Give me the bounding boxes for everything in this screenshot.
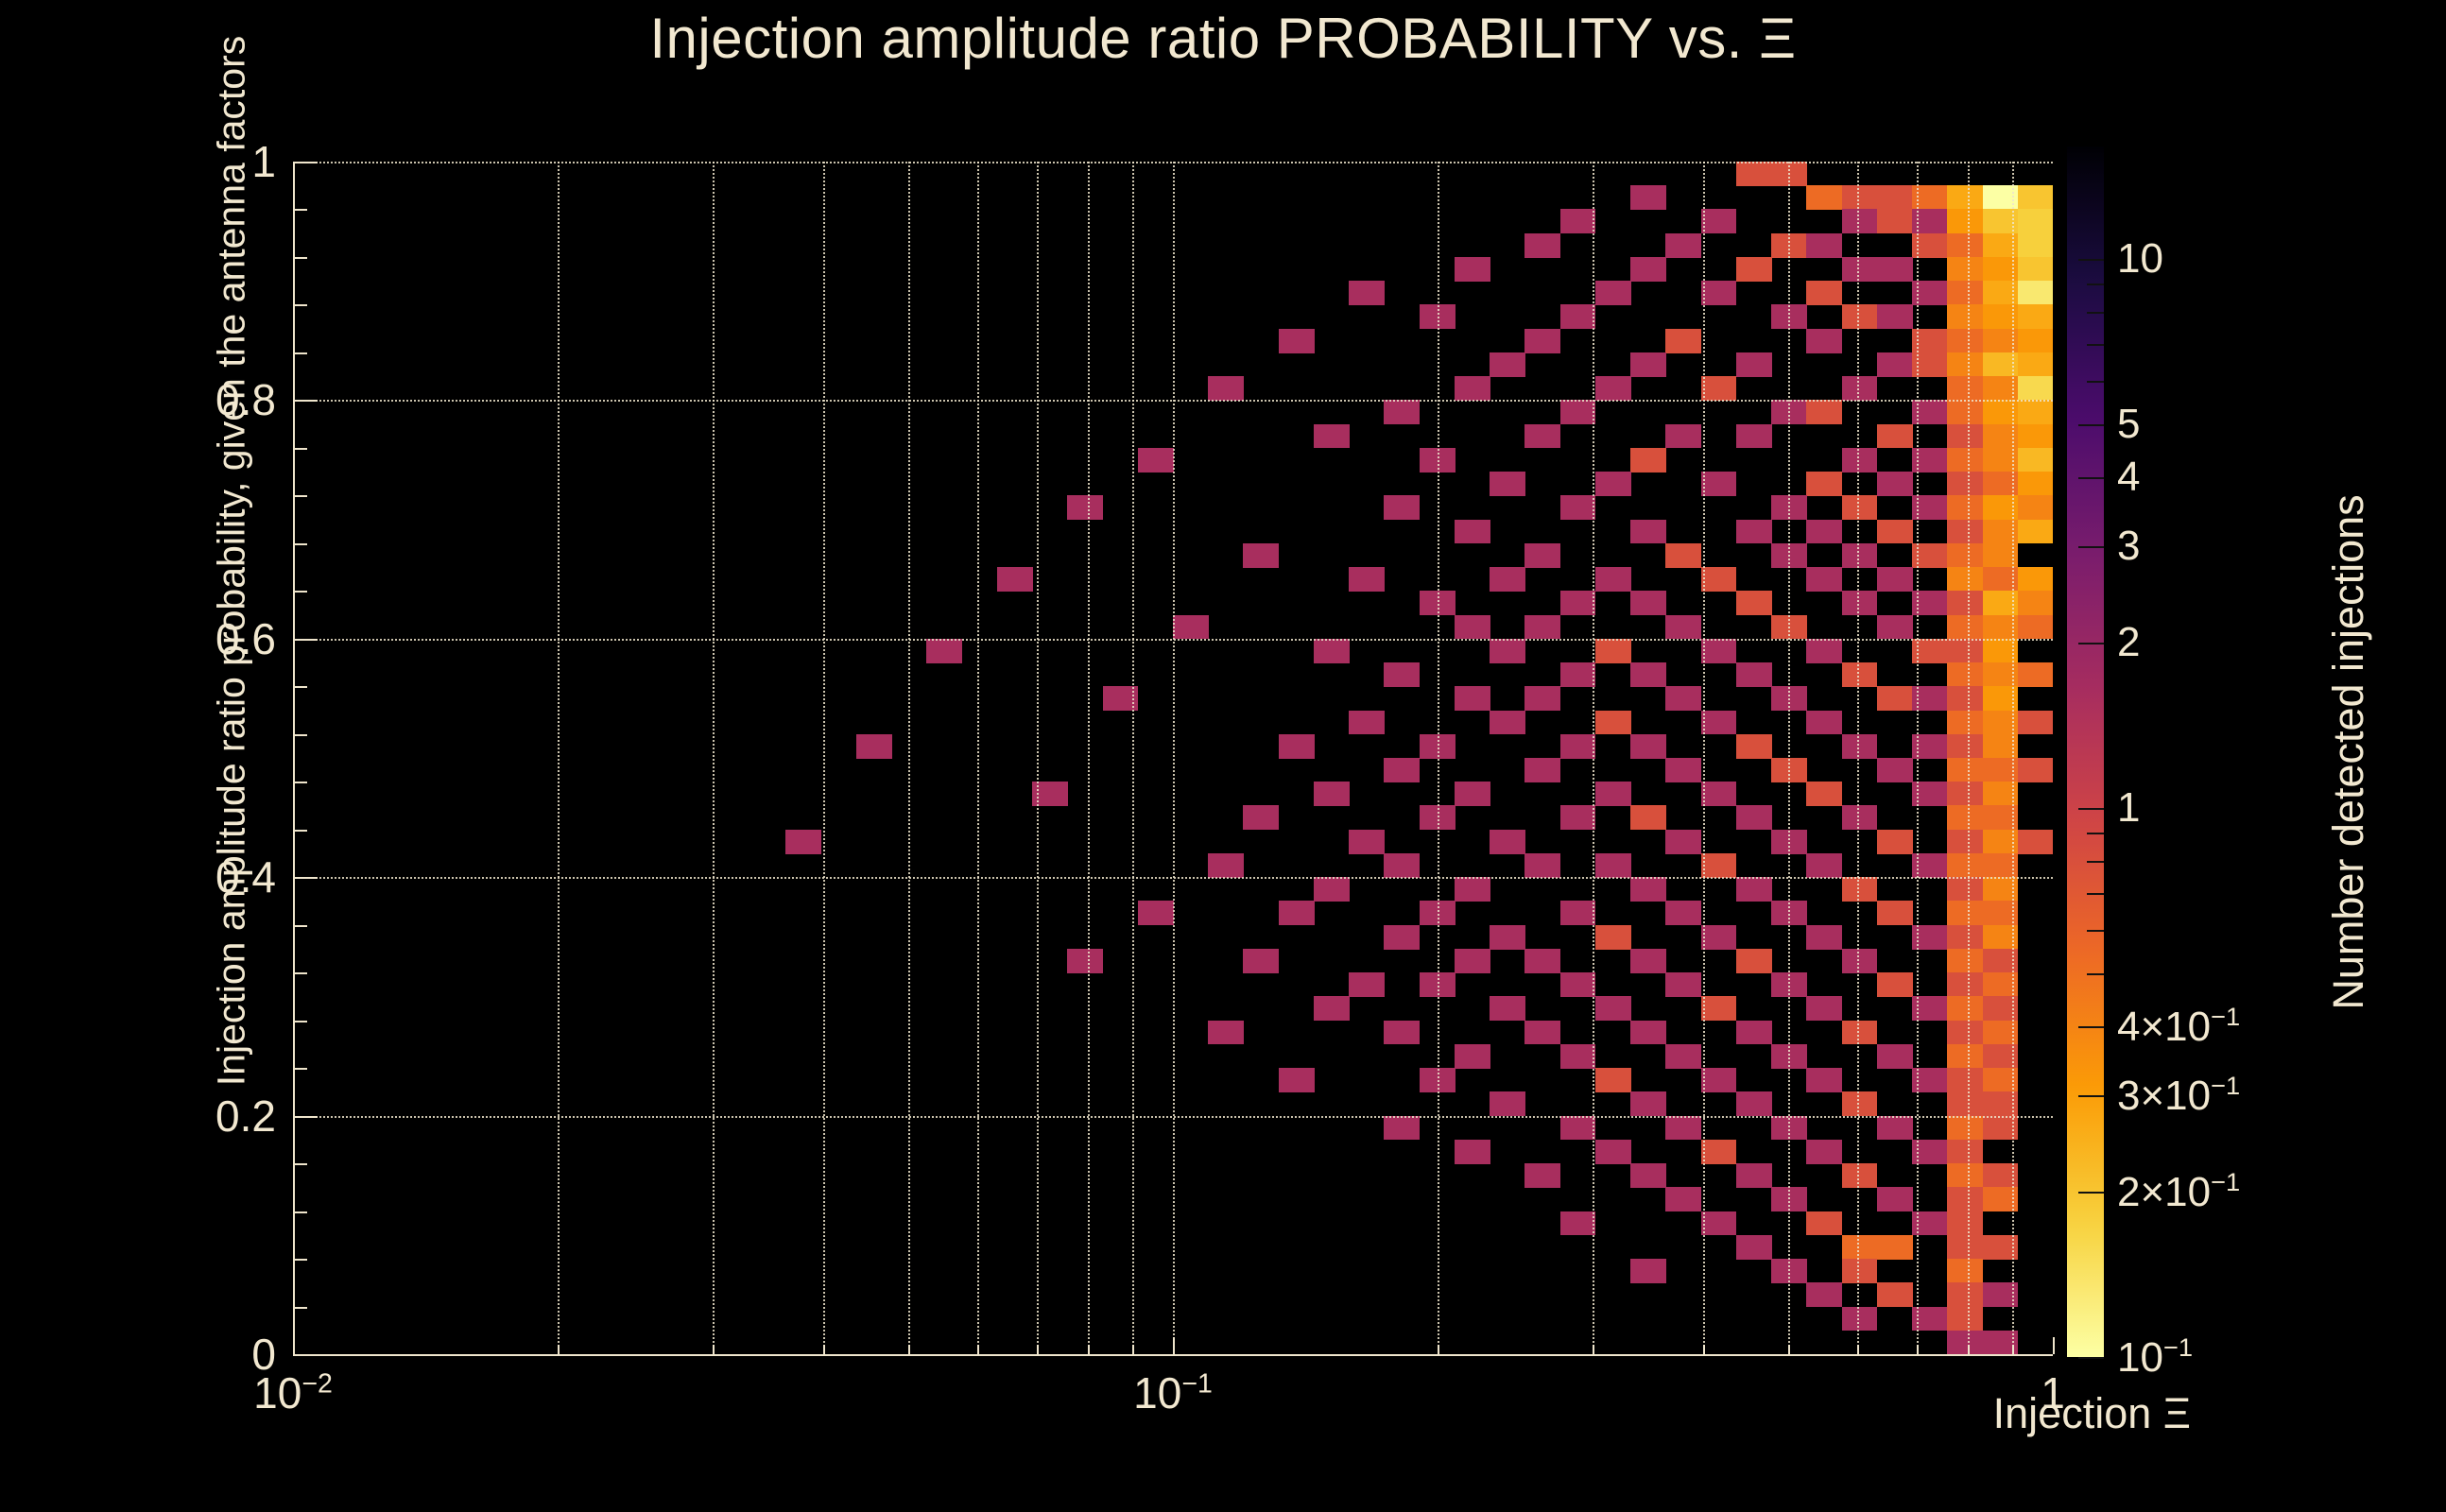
y-major-tick [293,877,318,879]
heatmap-cell [1771,972,1807,997]
heatmap-cell [1736,1021,1772,1045]
heatmap-cell [1842,543,1878,568]
heatmap-cell [1736,591,1772,615]
heatmap-cell [1736,162,1772,186]
x-minor-tick [977,1345,979,1354]
heatmap-cell [1595,1140,1631,1164]
heatmap-cell [2018,567,2053,592]
heatmap-cell [2018,304,2053,329]
heatmap-cell [1877,1116,1913,1141]
y-minor-tick [293,1259,307,1261]
heatmap-plot-area[interactable] [293,162,2053,1354]
heatmap-cell [1560,1116,1596,1141]
heatmap-cell [2018,400,2053,424]
heatmap-cell [1806,711,1842,735]
heatmap-cells [293,162,2053,1354]
heatmap-cell [1736,424,1772,449]
heatmap-cell [1455,686,1490,711]
heatmap-cell [1842,734,1878,759]
heatmap-cell [1314,424,1350,449]
x-minor-tick [908,1345,910,1354]
y-minor-tick [293,543,307,545]
heatmap-cell [1701,472,1737,496]
heatmap-cell [1842,448,1878,472]
heatmap-cell [1524,686,1560,711]
x-tick-label: 10−2 [253,1367,333,1418]
heatmap-cell [2018,424,2053,449]
heatmap-cell [1947,711,1983,735]
heatmap-cell [1947,1259,1983,1283]
heatmap-cell [2018,758,2053,782]
heatmap-cell [1877,472,1913,496]
heatmap-cell [1983,877,2019,902]
heatmap-cell [1877,686,1913,711]
heatmap-cell [1806,233,1842,258]
heatmap-cell [1560,972,1596,997]
heatmap-cell [1490,711,1525,735]
heatmap-cell [1912,329,1948,353]
heatmap-cell [1983,1044,2019,1069]
heatmap-cell [1630,352,1666,377]
heatmap-cell [1947,686,1983,711]
heatmap-cell [1560,805,1596,830]
heatmap-cell [1983,1163,2019,1188]
heatmap-cell [1983,901,2019,925]
heatmap-cell [1947,996,1983,1021]
heatmap-cell [1947,257,1983,282]
heatmap-cell [1490,1091,1525,1116]
heatmap-cell [2018,472,2053,496]
heatmap-cell [1208,376,1244,401]
heatmap-cell [1103,686,1139,711]
heatmap-cell [1983,972,2019,997]
heatmap-cell [1912,1307,1948,1332]
heatmap-cell [1842,662,1878,687]
heatmap-cell [1630,591,1666,615]
heatmap-cell [1912,734,1948,759]
y-major-tick [293,400,318,402]
heatmap-cell [1947,782,1983,806]
heatmap-cell [2018,711,2053,735]
heatmap-cell [1208,1021,1244,1045]
heatmap-cell [1983,949,2019,973]
colorbar-tick-label: 2×10−1 [2117,1167,2240,1216]
heatmap-cell [1490,639,1525,663]
heatmap-cell [1947,1187,1983,1211]
colorbar-major-tick [2078,808,2104,810]
heatmap-cell [1524,543,1560,568]
heatmap-cell [1420,448,1456,472]
heatmap-cell [1806,1282,1842,1307]
heatmap-cell [2018,448,2053,472]
heatmap-cell [1665,972,1701,997]
heatmap-cell [1314,782,1350,806]
heatmap-cell [1630,1259,1666,1283]
heatmap-cell [1842,376,1878,401]
heatmap-cell [1947,877,1983,902]
heatmap-cell [2018,257,2053,282]
heatmap-cell [1736,877,1772,902]
y-major-tick [293,639,318,641]
y-axis-title: Injection amplitude ratio probability, g… [210,0,254,1176]
colorbar-tick-label: 10−1 [2117,1332,2193,1382]
heatmap-cell [1384,758,1420,782]
y-minor-tick [293,304,307,306]
heatmap-cell [1947,281,1983,305]
heatmap-cell [1701,782,1737,806]
heatmap-cell [1665,1187,1701,1211]
heatmap-cell [1947,185,1983,210]
heatmap-cell [1947,591,1983,615]
heatmap-cell [1877,209,1913,233]
heatmap-cell [1771,304,1807,329]
heatmap-cell [1806,1140,1842,1164]
heatmap-cell [1279,1068,1315,1092]
heatmap-cell [1947,925,1983,950]
heatmap-cell [1279,734,1315,759]
heatmap-cell [1701,209,1737,233]
heatmap-cell [1771,758,1807,782]
heatmap-cell [1138,901,1174,925]
heatmap-cell [1912,281,1948,305]
heatmap-cell [1420,1068,1456,1092]
heatmap-cell [1701,639,1737,663]
heatmap-cell [1067,495,1103,520]
heatmap-cell [1701,567,1737,592]
heatmap-cell [1384,495,1420,520]
heatmap-cell [2018,830,2053,854]
heatmap-cell [1877,567,1913,592]
y-minor-tick [293,1021,307,1022]
heatmap-cell [1983,925,2019,950]
heatmap-cell [1877,1187,1913,1211]
heatmap-cell [1806,1068,1842,1092]
heatmap-cell [1983,1116,2019,1141]
heatmap-cell [1490,996,1525,1021]
heatmap-cell [1595,996,1631,1021]
heatmap-cell [1524,949,1560,973]
heatmap-cell [1349,567,1385,592]
heatmap-cell [1912,352,1948,377]
heatmap-cell [1947,1021,1983,1045]
x-minor-tick [558,1345,560,1354]
heatmap-cell [1947,1091,1983,1116]
heatmap-cell [1701,1068,1737,1092]
colorbar-tick-label: 3×10−1 [2117,1071,2240,1120]
heatmap-cell [1983,376,2019,401]
heatmap-cell [1314,877,1350,902]
heatmap-cell [1701,996,1737,1021]
heatmap-cell [1947,304,1983,329]
y-minor-tick [293,591,307,593]
heatmap-cell [1912,853,1948,878]
heatmap-cell [1490,352,1525,377]
heatmap-cell [1701,711,1737,735]
heatmap-cell [1630,877,1666,902]
heatmap-cell [1173,615,1209,640]
heatmap-cell [1806,996,1842,1021]
heatmap-cell [1912,233,1948,258]
heatmap-cell [1983,686,2019,711]
heatmap-cell [1947,615,1983,640]
y-major-tick [293,1116,318,1118]
y-minor-tick [293,1211,307,1213]
heatmap-cell [1806,400,1842,424]
heatmap-cell [1983,853,2019,878]
heatmap-cell [1771,233,1807,258]
heatmap-cell [1842,591,1878,615]
heatmap-cell [1983,1187,2019,1211]
colorbar-tick [2087,344,2104,346]
heatmap-cell [1314,639,1350,663]
heatmap-cell [1455,520,1490,544]
heatmap-cell [1877,901,1913,925]
heatmap-cell [1524,329,1560,353]
heatmap-cell [1947,639,1983,663]
heatmap-cell [1771,1259,1807,1283]
y-minor-tick [293,782,307,783]
colorbar-tick-label: 1 [2117,784,2140,832]
colorbar-tick-label: 10 [2117,235,2163,283]
heatmap-cell [1806,472,1842,496]
x-minor-tick [713,1345,715,1354]
heatmap-cell [1349,711,1385,735]
chart-title: Injection amplitude ratio PROBABILITY vs… [0,6,2446,71]
heatmap-cell [1279,901,1315,925]
heatmap-cell [1490,830,1525,854]
heatmap-cell [1384,1021,1420,1045]
heatmap-cell [1736,1091,1772,1116]
heatmap-cell [1208,853,1244,878]
heatmap-cell [1983,996,2019,1021]
colorbar-tick-label: 5 [2117,401,2140,448]
heatmap-cell [1983,329,2019,353]
heatmap-cell [1701,1211,1737,1236]
heatmap-cell [1806,853,1842,878]
y-minor-tick [293,1068,307,1070]
colorbar-major-tick [2078,259,2104,261]
heatmap-cell [1771,1187,1807,1211]
plot-canvas: Injection amplitude ratio PROBABILITY vs… [0,0,2446,1512]
x-minor-tick [1968,1345,1970,1354]
x-minor-tick [823,1345,825,1354]
x-major-tick [2053,1337,2055,1354]
heatmap-cell [1384,925,1420,950]
heatmap-cell [1736,949,1772,973]
colorbar-tick [2087,833,2104,834]
heatmap-cell [1560,734,1596,759]
heatmap-cell [1384,662,1420,687]
heatmap-cell [1595,925,1631,950]
heatmap-cell [1947,734,1983,759]
heatmap-cell [1630,257,1666,282]
heatmap-cell [1630,1021,1666,1045]
heatmap-cell [1560,209,1596,233]
heatmap-cell [1947,472,1983,496]
heatmap-cell [1806,281,1842,305]
heatmap-cell [1947,376,1983,401]
heatmap-cell [1560,1044,1596,1069]
heatmap-cell [1983,1282,2019,1307]
x-minor-tick [1857,1345,1859,1354]
heatmap-cell [1067,949,1103,973]
heatmap-cell [1032,782,1068,806]
heatmap-cell [1701,281,1737,305]
heatmap-cell [1701,376,1737,401]
colorbar[interactable] [2067,146,2104,1357]
x-minor-tick [1703,1345,1705,1354]
colorbar-tick [2087,893,2104,895]
heatmap-cell [1947,1116,1983,1141]
heatmap-cell [1349,830,1385,854]
heatmap-cell [1560,400,1596,424]
colorbar-major-tick [2078,546,2104,548]
heatmap-cell [1947,1068,1983,1092]
heatmap-cell [1877,352,1913,377]
heatmap-cell [1842,1163,1878,1188]
heatmap-cell [1630,949,1666,973]
heatmap-cell [2018,233,2053,258]
heatmap-cell [1983,1021,2019,1045]
x-minor-tick [1788,1345,1790,1354]
heatmap-cell [1349,972,1385,997]
heatmap-cell [1842,1091,1878,1116]
heatmap-cell [1877,972,1913,997]
colorbar-tick-label: 3 [2117,523,2140,570]
heatmap-cell [1701,925,1737,950]
x-axis-title: Injection Ξ [1993,1389,2191,1438]
heatmap-cell [1806,639,1842,663]
heatmap-cell [1665,830,1701,854]
heatmap-cell [1243,805,1279,830]
heatmap-cell [1455,782,1490,806]
x-minor-tick [1132,1345,1134,1354]
x-tick-label: 10−1 [1133,1367,1213,1418]
heatmap-cell [1947,1140,1983,1164]
heatmap-cell [1665,543,1701,568]
y-major-tick [293,162,318,163]
heatmap-cell [1877,615,1913,640]
heatmap-cell [1947,233,1983,258]
heatmap-cell [1595,639,1631,663]
heatmap-cell [1983,424,2019,449]
heatmap-cell [1806,329,1842,353]
colorbar-tick-label: 2 [2117,619,2140,666]
heatmap-cell [1490,567,1525,592]
heatmap-cell [1983,257,2019,282]
heatmap-cell [1455,949,1490,973]
heatmap-cell [1630,734,1666,759]
heatmap-cell [1947,853,1983,878]
heatmap-cell [1736,1163,1772,1188]
heatmap-cell [1771,1116,1807,1141]
heatmap-cell [1595,1068,1631,1092]
y-axis-title-host: Injection amplitude ratio probability, g… [90,170,146,1342]
heatmap-cell [1983,233,2019,258]
x-minor-tick [1037,1345,1039,1354]
heatmap-cell [1560,591,1596,615]
heatmap-cell [1947,830,1983,854]
heatmap-cell [1665,1044,1701,1069]
heatmap-cell [1912,591,1948,615]
heatmap-cell [1947,758,1983,782]
heatmap-cell [1560,901,1596,925]
heatmap-cell [1665,329,1701,353]
heatmap-cell [1420,805,1456,830]
colorbar-tick [2087,283,2104,285]
heatmap-cell [1912,448,1948,472]
heatmap-cell [1842,1259,1878,1283]
heatmap-cell [1947,400,1983,424]
heatmap-cell [1701,1140,1737,1164]
heatmap-cell [1701,853,1737,878]
colorbar-major-tick [2078,1026,2104,1028]
heatmap-cell [1771,901,1807,925]
colorbar-tick-label: 4×10−1 [2117,1002,2240,1051]
heatmap-cell [1912,495,1948,520]
y-minor-tick [293,257,307,259]
heatmap-cell [1842,185,1878,210]
heatmap-cell [1947,495,1983,520]
heatmap-cell [2018,281,2053,305]
heatmap-cell [1947,1211,1983,1236]
colorbar-major-tick [2078,643,2104,644]
heatmap-cell [2018,376,2053,401]
heatmap-cell [1524,758,1560,782]
heatmap-cell [1912,209,1948,233]
heatmap-cell [2018,615,2053,640]
heatmap-cell [1560,304,1596,329]
y-minor-tick [293,686,307,688]
heatmap-cell [1665,901,1701,925]
heatmap-cell [1842,209,1878,233]
heatmap-cell [1983,304,2019,329]
heatmap-cell [1842,1235,1878,1260]
y-minor-tick [293,209,307,211]
heatmap-cell [1630,805,1666,830]
heatmap-cell [1912,925,1948,950]
heatmap-cell [1877,758,1913,782]
colorbar-tick [2087,312,2104,314]
heatmap-cell [1947,901,1983,925]
heatmap-cell [2018,495,2053,520]
heatmap-cell [1983,352,2019,377]
heatmap-cell [1490,925,1525,950]
heatmap-cell [1736,520,1772,544]
heatmap-cell [1595,281,1631,305]
heatmap-cell [1806,567,1842,592]
heatmap-cell [1912,686,1948,711]
y-minor-tick [293,734,307,736]
heatmap-cell [1560,1211,1596,1236]
heatmap-cell [1947,448,1983,472]
heatmap-cell [1736,662,1772,687]
heatmap-cell [1983,1068,2019,1092]
heatmap-cell [1912,185,1948,210]
heatmap-cell [1877,257,1913,282]
heatmap-cell [1912,1068,1948,1092]
colorbar-gradient [2067,146,2104,1357]
x-major-tick [293,1337,295,1354]
heatmap-cell [1842,805,1878,830]
heatmap-cell [1947,352,1983,377]
heatmap-cell [1983,281,2019,305]
heatmap-cell [1912,400,1948,424]
heatmap-cell [1420,972,1456,997]
colorbar-major-tick [2078,424,2104,426]
heatmap-cell [1842,877,1878,902]
heatmap-cell [1983,495,2019,520]
